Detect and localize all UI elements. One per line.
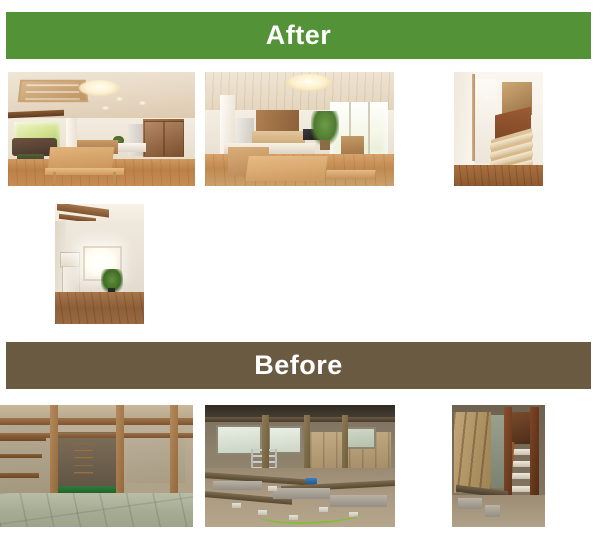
floor-planks (55, 292, 144, 324)
tatami-seams (0, 493, 193, 527)
skylight (18, 80, 88, 103)
pier-pad (268, 486, 277, 491)
downlight (102, 106, 109, 110)
ceiling-beam (0, 418, 193, 424)
photo-after-open-living-dining-kitchen[interactable] (8, 72, 195, 186)
shelf (0, 473, 39, 477)
photo-after-3-scene (454, 72, 543, 186)
photo-before-stripped-wall-stairs[interactable] (452, 405, 545, 527)
bench-leg (53, 172, 56, 183)
photo-before-3-scene (452, 405, 545, 527)
photo-before-1-scene (0, 405, 193, 527)
photo-after-2-scene (205, 72, 394, 186)
foundation-block (458, 498, 482, 509)
blue-tool (306, 478, 317, 484)
plant-pot (320, 140, 329, 149)
wood-floor (55, 292, 144, 324)
photo-after-4-scene (55, 204, 144, 324)
dining-table (245, 156, 328, 181)
ceiling-beam (205, 417, 395, 422)
foundation-block (273, 488, 330, 499)
ceiling-light (79, 80, 120, 96)
kitchen-cabinetry (143, 119, 184, 158)
sideboard (341, 136, 364, 154)
dining-table (48, 147, 114, 170)
stripped-stud-wall (454, 412, 491, 493)
photo-after-kitchen-dining-garden[interactable] (205, 72, 394, 186)
photo-before-2-scene (205, 405, 395, 527)
foundation-block (485, 505, 500, 517)
alcove-shelf (74, 450, 94, 452)
shelf (0, 454, 42, 458)
cabinet-door (164, 121, 184, 157)
section-banner-after: After (6, 12, 591, 59)
floor-planks (454, 165, 543, 186)
tatami-floor (0, 493, 193, 527)
window (346, 427, 377, 449)
downlight (482, 95, 490, 99)
window-mullion (368, 102, 370, 157)
photo-before-tatami-room[interactable] (0, 405, 193, 527)
skylight-slat (27, 85, 80, 87)
cabinet-door (144, 121, 164, 157)
renovation-gallery-page: After (0, 0, 600, 533)
photo-after-empty-room-window[interactable] (55, 204, 144, 324)
photo-before-gutted-floor[interactable] (205, 405, 395, 527)
ceiling-beam (0, 433, 193, 438)
alcove-shelf (74, 443, 94, 445)
bench-leg (113, 172, 116, 183)
pier-pad (232, 503, 241, 508)
upper-cabinets (256, 110, 299, 132)
alcove (54, 432, 120, 493)
photo-after-hallway-stairs[interactable] (454, 72, 543, 186)
built-in-cabinet (62, 266, 80, 294)
dining-bench (325, 170, 375, 179)
foundation-block (213, 481, 262, 491)
alcove-shelf (74, 457, 94, 459)
downlight (139, 101, 146, 105)
wall-studs (454, 412, 491, 493)
alcove-shelf (74, 472, 94, 474)
section-title-before: Before (254, 352, 343, 379)
wood-floor (454, 165, 543, 186)
section-banner-before: Before (6, 342, 591, 389)
section-title-after: After (266, 22, 332, 49)
weathered-panel (510, 412, 532, 444)
photo-after-1-scene (8, 72, 195, 186)
alcove-shelf (74, 465, 94, 467)
